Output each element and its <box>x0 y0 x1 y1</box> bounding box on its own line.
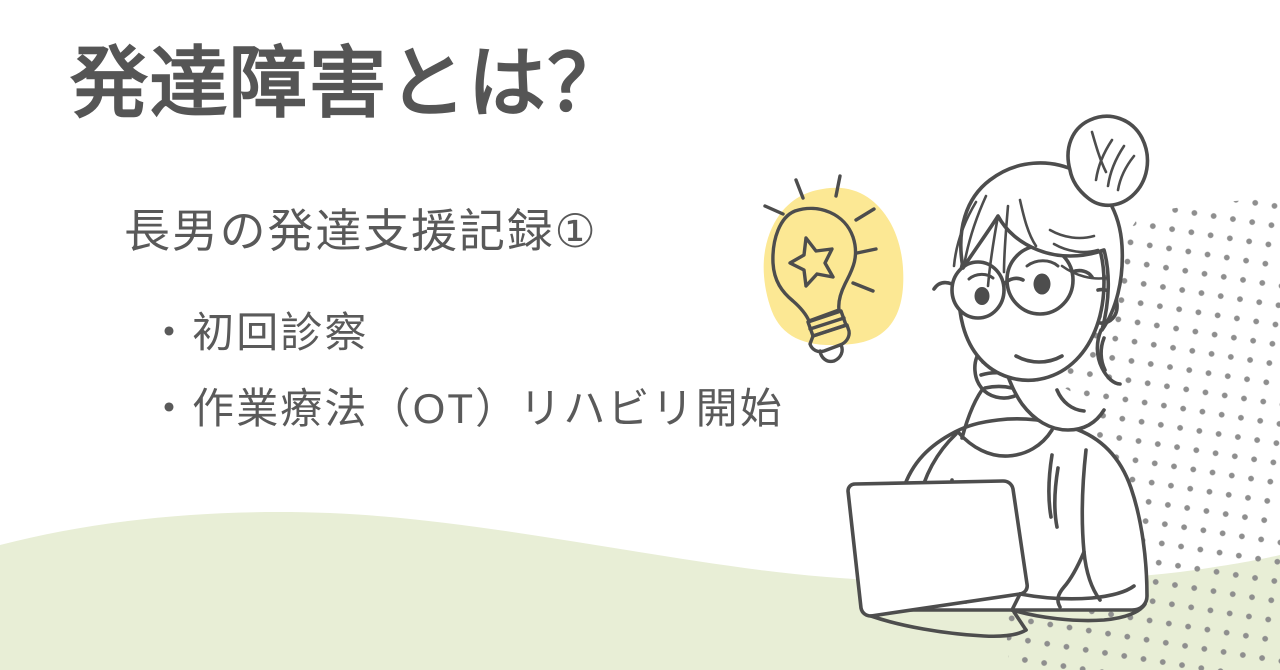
page-subtitle: 長男の発達支援記録① <box>124 208 598 254</box>
bullet-marker: ・ <box>148 385 192 432</box>
bullet-label: 初回診察 <box>192 309 368 356</box>
bullet-marker: ・ <box>148 309 192 356</box>
page-title: 発達障害とは？ <box>70 44 627 122</box>
list-item: ・作業療法（OT）リハビリ開始 <box>148 388 784 430</box>
list-item: ・初回診察 <box>148 312 784 354</box>
bullet-label: 作業療法（OT）リハビリ開始 <box>192 385 784 432</box>
bullet-list: ・初回診察 ・作業療法（OT）リハビリ開始 <box>148 312 784 464</box>
text-block: 発達障害とは？ 長男の発達支援記録① ・初回診察 ・作業療法（OT）リハビリ開始 <box>0 0 900 500</box>
slide-canvas: 発達障害とは？ 長男の発達支援記録① ・初回診察 ・作業療法（OT）リハビリ開始 <box>0 0 1280 670</box>
